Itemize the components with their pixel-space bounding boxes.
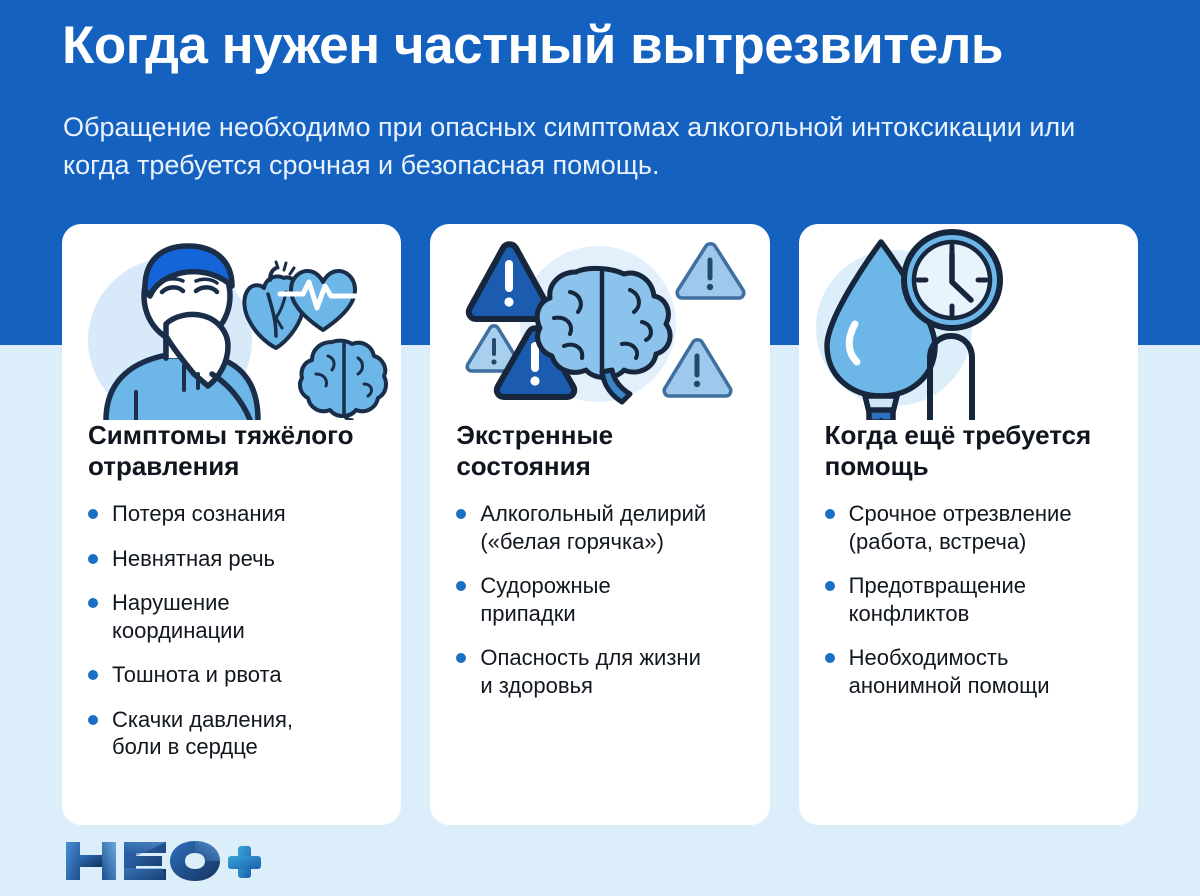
list-item: Предотвращение конфликтов	[825, 572, 1116, 627]
bullet-text: Алкогольный делирий («белая горячка»)	[480, 501, 706, 554]
bullet-text: Судорожные припадки	[480, 573, 610, 626]
bullet-dot-icon	[456, 581, 466, 591]
page-title: Когда нужен частный вытрезвитель	[62, 17, 1152, 74]
logo-letter-e	[124, 842, 166, 880]
list-item: Судорожные припадки	[456, 572, 747, 627]
logo-plus-icon	[228, 846, 261, 878]
card-3-bullet-list: Срочное отрезвление (работа, встреча) Пр…	[825, 500, 1116, 699]
bullet-dot-icon	[88, 715, 98, 725]
bullet-dot-icon	[88, 509, 98, 519]
bullet-text: Предотвращение конфликтов	[849, 573, 1026, 626]
list-item: Опасность для жизни и здоровья	[456, 644, 747, 699]
bullet-dot-icon	[456, 509, 466, 519]
infographic-page: Когда нужен частный вытрезвитель Обращен…	[0, 0, 1200, 896]
card-when-else-help: Когда ещё требуется помощь Срочное отрез…	[799, 224, 1138, 825]
card-2-body: Экстренные состояния Алкогольный делирий…	[430, 420, 769, 699]
warning-triangle-icon	[665, 340, 732, 396]
bullet-dot-icon	[88, 598, 98, 608]
list-item: Алкогольный делирий («белая горячка»)	[456, 500, 747, 555]
bullet-dot-icon	[825, 581, 835, 591]
logo-letter-n	[66, 842, 116, 880]
neo-plus-logo	[62, 838, 262, 884]
clock-icon	[904, 232, 1000, 328]
card-severe-poisoning: Симптомы тяжёлого отравления Потеря созн…	[62, 224, 401, 825]
card-2-title: Экстренные состояния	[456, 420, 747, 482]
card-1-bullet-list: Потеря сознания Невнятная речь Нарушение…	[88, 500, 379, 761]
bullet-text: Скачки давления, боли в сердце	[112, 707, 293, 760]
bullet-dot-icon	[825, 509, 835, 519]
card-1-body: Симптомы тяжёлого отравления Потеря созн…	[62, 420, 401, 761]
warning-triangle-icon	[678, 244, 745, 298]
list-item: Скачки давления, боли в сердце	[88, 706, 379, 761]
bullet-dot-icon	[825, 653, 835, 663]
card-2-illustration	[430, 224, 769, 420]
list-item: Срочное отрезвление (работа, встреча)	[825, 500, 1116, 555]
card-2-bullet-list: Алкогольный делирий («белая горячка») Су…	[456, 500, 747, 699]
list-item: Потеря сознания	[88, 500, 379, 528]
card-emergency-states: Экстренные состояния Алкогольный делирий…	[430, 224, 769, 825]
bullet-text: Нарушение координации	[112, 590, 245, 643]
bullet-dot-icon	[88, 670, 98, 680]
bullet-text: Невнятная речь	[112, 546, 275, 571]
logo-letter-o	[170, 841, 220, 881]
card-3-title: Когда ещё требуется помощь	[825, 420, 1116, 482]
card-1-title: Симптомы тяжёлого отравления	[88, 420, 379, 482]
card-1-illustration	[62, 224, 401, 420]
list-item: Нарушение координации	[88, 589, 379, 644]
bullet-dot-icon	[456, 653, 466, 663]
brain-icon	[300, 341, 386, 420]
bullet-text: Опасность для жизни и здоровья	[480, 645, 701, 698]
bullet-text: Срочное отрезвление (работа, встреча)	[849, 501, 1072, 554]
bullet-text: Тошнота и рвота	[112, 662, 282, 687]
list-item: Невнятная речь	[88, 545, 379, 573]
list-item: Тошнота и рвота	[88, 661, 379, 689]
bullet-dot-icon	[88, 554, 98, 564]
bullet-text: Потеря сознания	[112, 501, 286, 526]
card-3-body: Когда ещё требуется помощь Срочное отрез…	[799, 420, 1138, 699]
bullet-text: Необходимость анонимной помощи	[849, 645, 1050, 698]
list-item: Необходимость анонимной помощи	[825, 644, 1116, 699]
page-subtitle: Обращение необходимо при опасных симптом…	[63, 108, 1093, 185]
cards-row: Симптомы тяжёлого отравления Потеря созн…	[62, 224, 1138, 825]
card-3-illustration	[799, 224, 1138, 420]
